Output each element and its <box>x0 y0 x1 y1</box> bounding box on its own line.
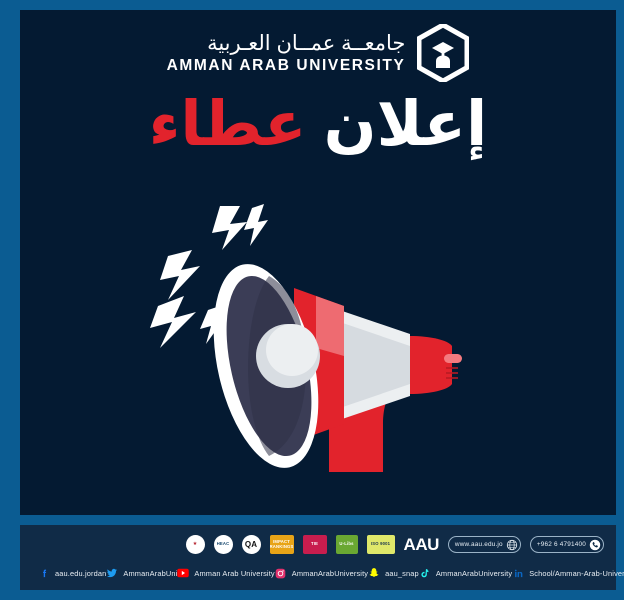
times-higher-education-impact-badge: IMPACTRANKINGS <box>270 535 294 554</box>
social-handle: aau_snap <box>385 569 419 578</box>
website-pill[interactable]: www.aau.edu.jo <box>448 536 521 553</box>
social-link-facebook[interactable]: aau.edu.jordan <box>38 567 106 579</box>
ulibs-badge: U-Libs <box>336 535 358 554</box>
brand-name-arabic: جامعــة عمــان العـربية <box>207 33 405 54</box>
facebook-icon <box>38 567 50 579</box>
social-link-linkedin[interactable]: School/Amman-Arab-University <box>512 567 624 579</box>
jordan-crest-badge: ★ <box>186 535 205 554</box>
brand-text-block: جامعــة عمــان العـربية AMMAN ARAB UNIVE… <box>167 33 406 74</box>
phone-pill[interactable]: +962 6 4791400 <box>530 536 604 553</box>
megaphone-icon <box>148 188 488 488</box>
social-link-tiktok[interactable]: AmmanArabUniversity <box>419 567 512 579</box>
footer-bar: ★ HEAC QA IMPACTRANKINGS TIE U-Libs ISO … <box>20 525 616 590</box>
twitter-icon <box>106 567 118 579</box>
megaphone-driver-highlight <box>266 324 318 376</box>
tiktok-icon <box>419 567 431 579</box>
social-handle: AmmanArabUni <box>123 569 177 578</box>
social-handle: AmmanArabUniversity <box>436 569 512 578</box>
social-handle: Amman Arab University <box>194 569 274 578</box>
brand-lockup: جامعــة عمــان العـربية AMMAN ARAB UNIVE… <box>20 24 616 82</box>
social-handle: School/Amman-Arab-University <box>529 569 624 578</box>
phone-number-text: +962 6 4791400 <box>537 541 586 548</box>
page-title: إعلان عطاء <box>20 92 616 157</box>
social-handle: aau.edu.jordan <box>55 569 106 578</box>
hequality-badge: HEAC <box>214 535 233 554</box>
youtube-icon <box>177 567 189 579</box>
accreditation-row: ★ HEAC QA IMPACTRANKINGS TIE U-Libs ISO … <box>20 532 616 557</box>
globe-icon <box>506 539 518 551</box>
poster-canvas: جامعــة عمــان العـربية AMMAN ARAB UNIVE… <box>20 10 616 515</box>
website-url-text: www.aau.edu.jo <box>455 541 503 548</box>
brand-name-english: AMMAN ARAB UNIVERSITY <box>167 58 406 74</box>
qa-badge: QA <box>242 535 261 554</box>
megaphone-tail-highlight <box>444 354 462 363</box>
hexagon-graduation-emblem-icon <box>417 24 469 82</box>
megaphone-collar-highlight <box>316 296 344 356</box>
social-link-instagram[interactable]: AmmanArabUniversity <box>275 567 368 579</box>
phone-icon <box>589 539 601 551</box>
social-link-youtube[interactable]: Amman Arab University <box>177 567 274 579</box>
iso-certification-badge: ISO 9001 <box>367 535 395 554</box>
snapchat-icon <box>368 567 380 579</box>
poster-root: جامعــة عمــان العـربية AMMAN ARAB UNIVE… <box>0 0 624 600</box>
headline-word-white: إعلان <box>324 90 488 159</box>
headline-word-red: عطاء <box>149 90 307 159</box>
instagram-icon <box>275 567 287 579</box>
social-handle: AmmanArabUniversity <box>292 569 368 578</box>
linkedin-icon <box>512 567 524 579</box>
social-link-twitter[interactable]: AmmanArabUni <box>106 567 177 579</box>
tie-badge: TIE <box>303 535 327 554</box>
social-link-snapchat[interactable]: aau_snap <box>368 567 419 579</box>
aau-monogram: AAU <box>404 535 439 555</box>
megaphone-tail-cap <box>410 336 452 394</box>
social-links-row: aau.edu.jordan AmmanArabUni Amman A <box>20 561 616 585</box>
